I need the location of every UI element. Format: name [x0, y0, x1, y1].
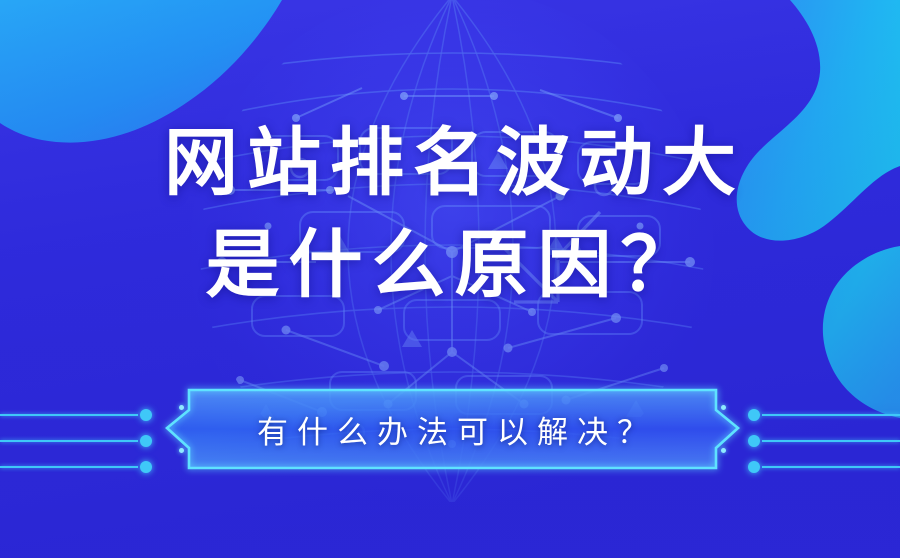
decor-rules-left: [0, 403, 152, 481]
rule-dot: [140, 409, 152, 421]
rule-line: [0, 414, 138, 416]
subtitle-text: 有什么办法可以解决？: [165, 388, 740, 470]
rule-dot: [748, 435, 760, 447]
rule-row: [748, 429, 900, 455]
rule-line: [762, 440, 900, 442]
rule-line: [0, 466, 138, 468]
decor-rules-right: [748, 403, 900, 481]
rule-row: [0, 429, 152, 455]
rule-dot: [748, 409, 760, 421]
rule-dot: [140, 435, 152, 447]
rule-row: [748, 455, 900, 481]
rule-row: [0, 455, 152, 481]
rule-row: [748, 403, 900, 429]
rule-dot: [140, 461, 152, 473]
promo-banner: 网站排名波动大 是什么原因？: [0, 0, 900, 558]
rule-dot: [748, 461, 760, 473]
rule-line: [762, 414, 900, 416]
rule-line: [0, 440, 138, 442]
subtitle-banner: 有什么办法可以解决？: [165, 388, 740, 470]
rule-line: [762, 466, 900, 468]
rule-row: [0, 403, 152, 429]
